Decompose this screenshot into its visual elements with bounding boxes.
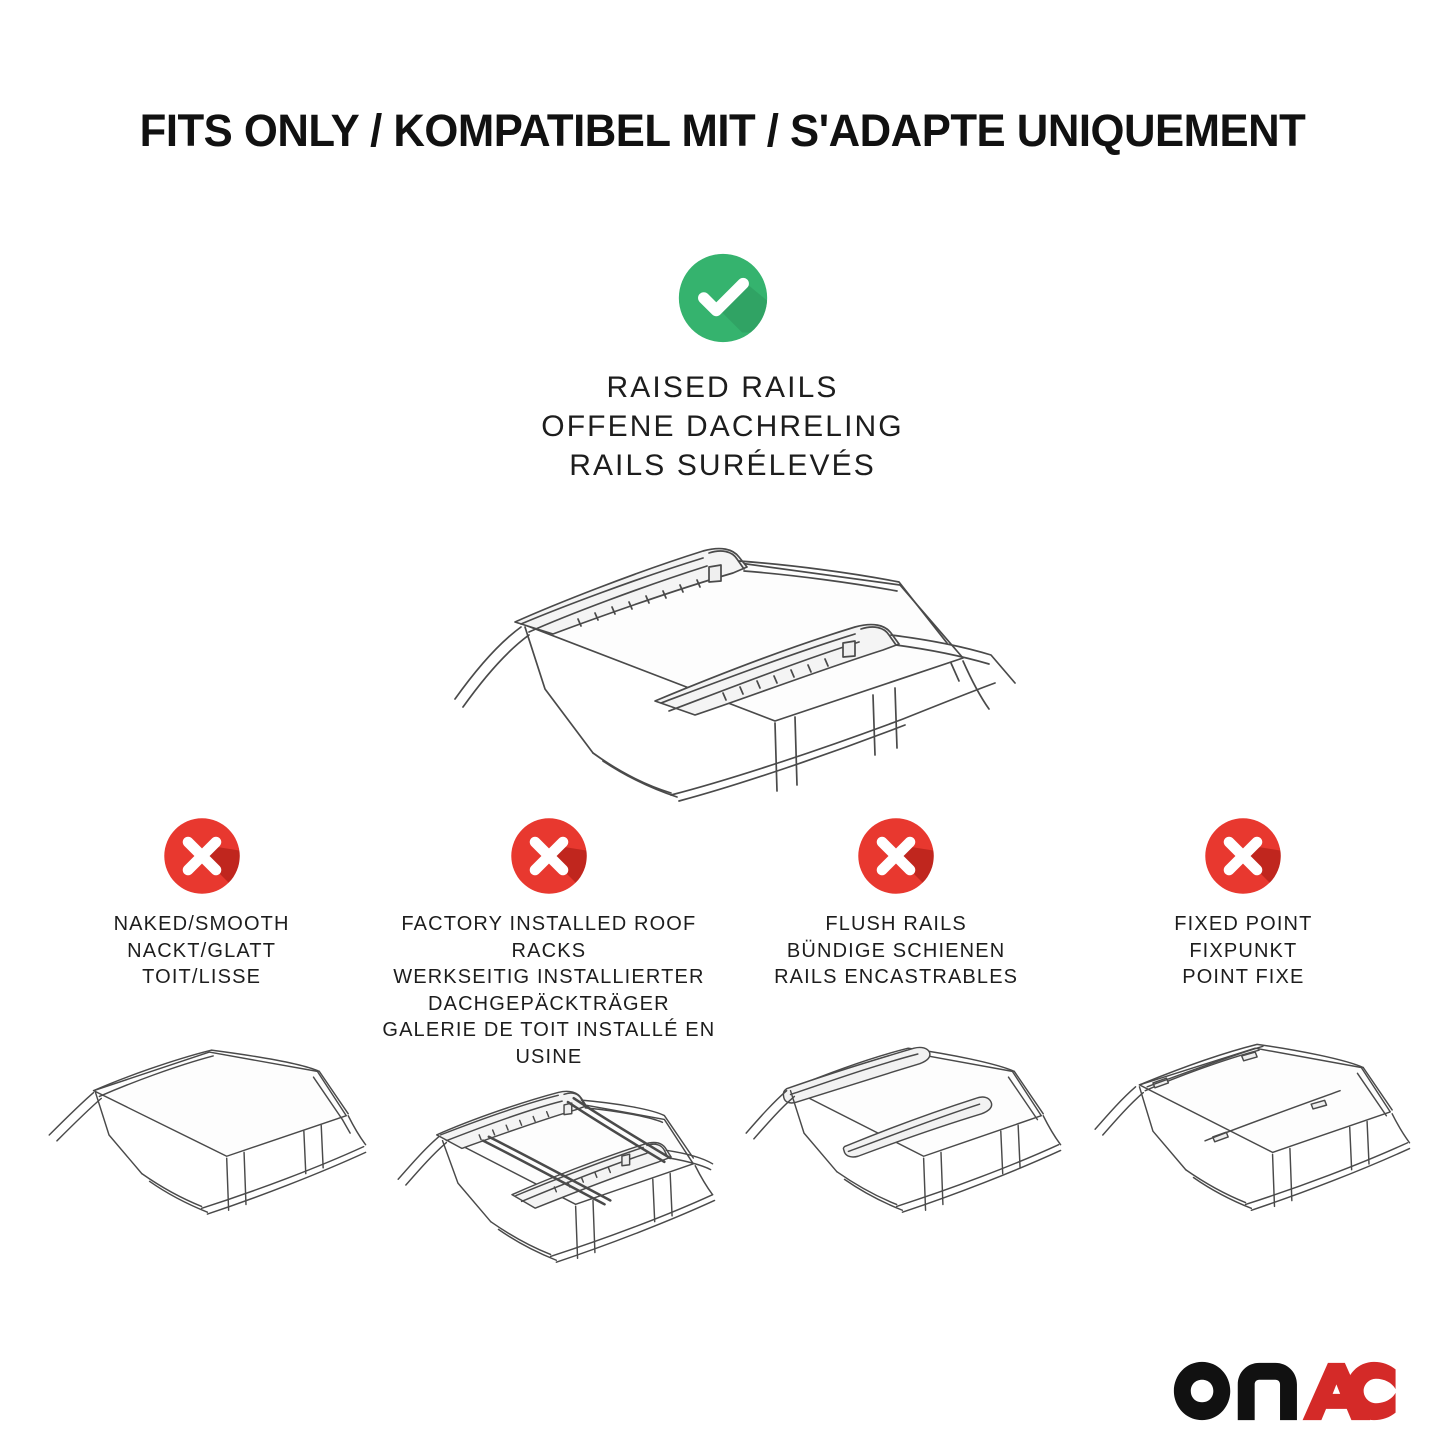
compatible-section: RAISED RAILS OFFENE DACHRELING RAILS SUR… [0, 250, 1445, 803]
label-line-1: NAKED/SMOOTH [114, 911, 290, 938]
check-circle-icon [675, 250, 771, 346]
compatible-label-line-1: RAISED RAILS [541, 368, 903, 407]
incompatible-label-factory-racks: FACTORY INSTALLED ROOF RACKS WERKSEITIG … [375, 911, 722, 1071]
label-line-2: NACKT/GLATT [114, 938, 290, 965]
incompatible-section: NAKED/SMOOTH NACKT/GLATT TOIT/LISSE [0, 815, 1445, 1312]
label-line-2: FIXPUNKT [1174, 938, 1312, 965]
incompatible-label-naked-smooth: NAKED/SMOOTH NACKT/GLATT TOIT/LISSE [114, 911, 290, 1021]
compatible-label: RAISED RAILS OFFENE DACHRELING RAILS SUR… [541, 368, 903, 485]
cross-circle-icon [508, 815, 590, 897]
car-roof-flush-rails-illustration [723, 1027, 1070, 1262]
label-line-1: FIXED POINT [1174, 911, 1312, 938]
car-roof-factory-racks-illustration [375, 1077, 722, 1312]
label-line-3: TOIT/LISSE [114, 964, 290, 991]
label-line-1: FLUSH RAILS [774, 911, 1018, 938]
incompatible-label-flush-rails: FLUSH RAILS BÜNDIGE SCHIENEN RAILS ENCAS… [774, 911, 1018, 1021]
omac-logo [1172, 1359, 1397, 1423]
cross-circle-icon [855, 815, 937, 897]
page-title-bar: FITS ONLY / KOMPATIBEL MIT / S'ADAPTE UN… [0, 105, 1445, 157]
compatible-label-line-2: OFFENE DACHRELING [541, 407, 903, 446]
incompatible-column-flush-rails: FLUSH RAILS BÜNDIGE SCHIENEN RAILS ENCAS… [723, 815, 1070, 1262]
incompatible-label-fixed-point: FIXED POINT FIXPUNKT POINT FIXE [1174, 911, 1312, 1021]
car-roof-fixed-point-illustration [1070, 1027, 1417, 1262]
incompatible-column-fixed-point: FIXED POINT FIXPUNKT POINT FIXE [1070, 815, 1417, 1262]
label-line-3: POINT FIXE [1174, 964, 1312, 991]
car-roof-raised-rails-illustration [403, 503, 1043, 803]
car-roof-naked-smooth-illustration [28, 1027, 375, 1262]
cross-circle-icon [1202, 815, 1284, 897]
incompatible-column-factory-racks: FACTORY INSTALLED ROOF RACKS WERKSEITIG … [375, 815, 722, 1312]
label-line-2: BÜNDIGE SCHIENEN [774, 938, 1018, 965]
compatible-label-line-3: RAILS SURÉLEVÉS [541, 446, 903, 485]
page-title: FITS ONLY / KOMPATIBEL MIT / S'ADAPTE UN… [22, 105, 1424, 157]
label-line-3: DACHGEPÄCKTRÄGER [375, 991, 722, 1018]
label-line-1: FACTORY INSTALLED ROOF RACKS [375, 911, 722, 964]
label-line-4: GALERIE DE TOIT INSTALLÉ EN USINE [375, 1017, 722, 1070]
incompatible-column-naked-smooth: NAKED/SMOOTH NACKT/GLATT TOIT/LISSE [28, 815, 375, 1262]
label-line-2: WERKSEITIG INSTALLIERTER [375, 964, 722, 991]
cross-circle-icon [161, 815, 243, 897]
label-line-3: RAILS ENCASTRABLES [774, 964, 1018, 991]
